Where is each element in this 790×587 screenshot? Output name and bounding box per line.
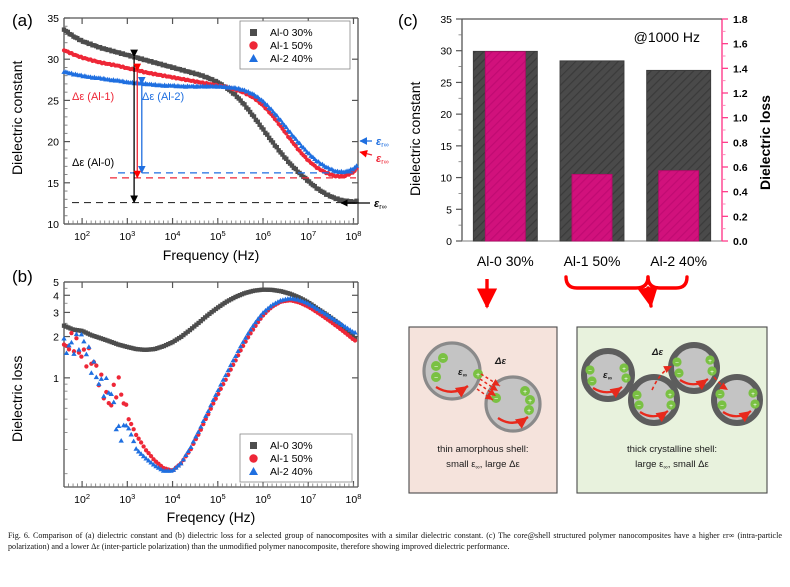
svg-text:+: + xyxy=(710,369,714,376)
svg-text:103: 103 xyxy=(119,492,135,506)
svg-text:35: 35 xyxy=(47,13,59,25)
particle: − − − + ε∞ xyxy=(424,343,483,399)
svg-text:−: − xyxy=(677,371,681,378)
panel-c-ylabel-left: Dielectric constant xyxy=(407,82,423,196)
schematic-thin-amorphous-shell: − − − + ε∞ − + + + Δε thin amorphous she… xyxy=(409,327,557,493)
svg-text:0: 0 xyxy=(446,236,452,248)
legend-marker-al1 xyxy=(249,454,257,462)
svg-text:−: − xyxy=(635,393,639,400)
particle: − − + + ε∞ xyxy=(584,351,632,399)
svg-text:1.0: 1.0 xyxy=(733,113,748,125)
panel-c-y-ticks-right: 0.00.20.40.60.81.01.21.41.61.8 xyxy=(722,14,748,248)
legend-marker-al0 xyxy=(250,442,257,449)
svg-text:1.4: 1.4 xyxy=(733,63,748,75)
svg-text:20: 20 xyxy=(440,109,452,121)
svg-text:3: 3 xyxy=(53,307,59,319)
legend-label-al1: Al-1 50% xyxy=(270,40,313,52)
svg-text:−: − xyxy=(441,356,445,363)
bar-dielectric-loss xyxy=(572,174,612,241)
particle: − − + + xyxy=(631,377,677,423)
legend-label-al1: Al-1 50% xyxy=(270,453,313,465)
svg-text:1.2: 1.2 xyxy=(733,88,748,100)
annotation-eps-r-inf-al2: εr∞ xyxy=(376,136,389,149)
legend-marker-al1 xyxy=(249,41,257,49)
panel-c-y-ticks-left: 05101520253035 xyxy=(440,14,462,248)
svg-text:−: − xyxy=(588,368,592,375)
panel-b-ylabel: Dielectric loss xyxy=(9,356,25,442)
svg-text:104: 104 xyxy=(165,229,181,243)
panel-a-ylabel: Dielectric constant xyxy=(9,61,25,175)
panel-c: (c) 05101520253035 0.00.20.40.60.81.01.2… xyxy=(398,11,773,307)
svg-text:10: 10 xyxy=(440,173,452,185)
panel-b-xlabel: Freqency (Hz) xyxy=(167,509,256,525)
panel-c-letter: (c) xyxy=(398,11,418,30)
svg-text:105: 105 xyxy=(210,229,226,243)
svg-text:5: 5 xyxy=(53,277,59,289)
panel-b: (b) 12345 102103104105106107108 Dielectr… xyxy=(9,267,361,525)
annotation-eps-r-inf-al0: εr∞ xyxy=(374,198,387,211)
svg-text:106: 106 xyxy=(255,492,271,506)
svg-text:35: 35 xyxy=(440,14,452,26)
svg-text:−: − xyxy=(590,379,594,386)
panel-c-bars xyxy=(473,51,710,241)
svg-text:0.4: 0.4 xyxy=(733,187,748,199)
particle: − + + + xyxy=(486,377,540,431)
svg-text:+: + xyxy=(527,408,531,415)
bar-dielectric-loss xyxy=(659,171,699,241)
schematic-left-line2: small ε∞, large Δε xyxy=(446,459,520,471)
svg-text:+: + xyxy=(528,398,532,405)
panel-a-letter: (a) xyxy=(12,11,33,30)
red-brace-to-right-schematic xyxy=(566,277,687,306)
svg-text:107: 107 xyxy=(300,492,316,506)
figure-label: Fig. 6. xyxy=(8,531,30,540)
annotation-delta-eps-al1: Δε (Al-1) xyxy=(72,91,114,103)
svg-text:0.8: 0.8 xyxy=(733,137,748,149)
svg-text:−: − xyxy=(434,375,438,382)
svg-text:−: − xyxy=(675,360,679,367)
delta-eps-label: Δε xyxy=(651,347,663,358)
annotation-delta-eps-al2: Δε (Al-2) xyxy=(142,91,184,103)
svg-text:25: 25 xyxy=(440,77,452,89)
svg-text:15: 15 xyxy=(47,178,59,190)
svg-text:−: − xyxy=(494,396,498,403)
figure-6: (a) 101520253035 102103104105106107108 D… xyxy=(0,0,790,587)
figure-graphics: (a) 101520253035 102103104105106107108 D… xyxy=(0,0,790,527)
svg-text:4: 4 xyxy=(53,290,59,302)
category-label: Al-1 50% xyxy=(564,253,621,269)
svg-text:20: 20 xyxy=(47,137,59,149)
svg-text:−: − xyxy=(718,392,722,399)
svg-text:103: 103 xyxy=(119,229,135,243)
legend-label-al2: Al-2 40% xyxy=(270,466,313,478)
particle: − − + + xyxy=(671,345,717,391)
svg-text:1.8: 1.8 xyxy=(733,14,748,26)
panel-a-legend: Al-0 30% Al-1 50% Al-2 40% xyxy=(240,21,350,69)
svg-text:105: 105 xyxy=(210,492,226,506)
svg-text:+: + xyxy=(708,358,712,365)
annotation-eps-r-inf-al1: εr∞ xyxy=(376,153,389,166)
schematic-right-line1: thick crystalline shell: xyxy=(627,444,717,455)
svg-text:25: 25 xyxy=(47,95,59,107)
bar-dielectric-loss xyxy=(485,52,525,241)
svg-text:+: + xyxy=(624,376,628,383)
legend-label-al2: Al-2 40% xyxy=(270,53,313,65)
legend-marker-al0 xyxy=(250,29,257,36)
svg-text:102: 102 xyxy=(74,492,90,506)
svg-text:+: + xyxy=(622,366,626,373)
panel-b-letter: (b) xyxy=(12,267,33,286)
panel-c-ylabel-right: Dielectric loss xyxy=(757,95,773,190)
series-Al-030 xyxy=(62,287,357,351)
svg-text:0.0: 0.0 xyxy=(733,236,748,248)
svg-text:5: 5 xyxy=(446,204,452,216)
svg-text:102: 102 xyxy=(74,229,90,243)
svg-text:1.6: 1.6 xyxy=(733,39,748,51)
svg-text:30: 30 xyxy=(440,46,452,58)
svg-text:+: + xyxy=(668,392,672,399)
svg-text:108: 108 xyxy=(346,492,362,506)
svg-text:108: 108 xyxy=(346,229,362,243)
svg-text:+: + xyxy=(753,402,757,409)
svg-text:−: − xyxy=(434,364,438,371)
svg-text:104: 104 xyxy=(165,492,181,506)
panel-a: (a) 101520253035 102103104105106107108 D… xyxy=(9,11,389,263)
panel-c-category-labels: Al-0 30%Al-1 50%Al-2 40% xyxy=(477,253,707,269)
svg-text:0.2: 0.2 xyxy=(733,211,748,223)
svg-text:+: + xyxy=(751,391,755,398)
schematic-thick-crystalline-shell: − − + + ε∞ − − + + − − + + − xyxy=(577,327,767,493)
figure-caption-block: Fig. 6. Comparison of (a) dielectric con… xyxy=(8,530,782,553)
panel-b-legend: Al-0 30% Al-1 50% Al-2 40% xyxy=(240,434,352,482)
svg-text:+: + xyxy=(669,403,673,410)
panel-c-annotation: @1000 Hz xyxy=(634,29,700,45)
panel-a-delta-arrows xyxy=(134,57,142,203)
svg-text:2: 2 xyxy=(53,332,59,344)
legend-label-al0: Al-0 30% xyxy=(270,440,313,452)
svg-text:107: 107 xyxy=(300,229,316,243)
svg-text:−: − xyxy=(637,403,641,410)
svg-text:0.6: 0.6 xyxy=(733,162,748,174)
delta-eps-label: Δε xyxy=(494,356,506,367)
svg-text:+: + xyxy=(523,389,527,396)
panel-a-xlabel: Frequency (Hz) xyxy=(163,247,259,263)
figure-caption-text: Comparison of (a) dielectric constant an… xyxy=(8,531,782,551)
category-label: Al-2 40% xyxy=(650,253,707,269)
annotation-delta-eps-al0: Δε (Al-0) xyxy=(72,157,114,169)
svg-text:+: + xyxy=(476,372,480,379)
schematic-right-line2: large ε∞, small Δε xyxy=(635,459,709,471)
legend-label-al0: Al-0 30% xyxy=(270,27,313,39)
svg-text:10: 10 xyxy=(47,219,59,231)
svg-text:1: 1 xyxy=(53,373,59,385)
schematic-left-line1: thin amorphous shell: xyxy=(437,444,528,455)
category-label: Al-0 30% xyxy=(477,253,534,269)
svg-text:106: 106 xyxy=(255,229,271,243)
svg-text:−: − xyxy=(720,403,724,410)
svg-text:15: 15 xyxy=(440,141,452,153)
figure-caption: Fig. 6. Comparison of (a) dielectric con… xyxy=(8,530,782,553)
svg-text:30: 30 xyxy=(47,54,59,66)
